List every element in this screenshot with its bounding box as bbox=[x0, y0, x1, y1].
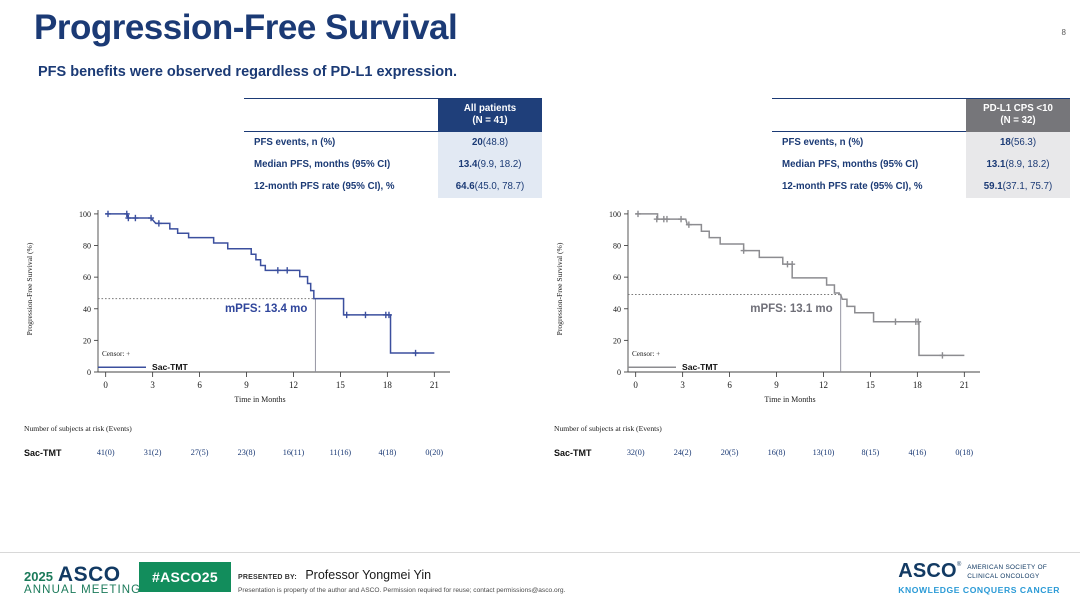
svg-text:9: 9 bbox=[244, 380, 249, 390]
svg-text:18: 18 bbox=[913, 380, 923, 390]
presented-by: PRESENTED BY: Professor Yongmei Yin bbox=[238, 566, 431, 584]
row-value-ci: (45.0, 78.7) bbox=[475, 181, 525, 192]
risk-table-cell: 4(18) bbox=[379, 448, 397, 457]
column-header-n: (N = 32) bbox=[1000, 115, 1035, 127]
risk-table-cell: 4(16) bbox=[909, 448, 927, 457]
risk-table-cell: 0(20) bbox=[425, 448, 443, 457]
svg-text:Progression-Free Survival (%): Progression-Free Survival (%) bbox=[25, 242, 34, 335]
km-plot-svg: Progression-Free Survival (%)02040608010… bbox=[18, 196, 458, 411]
column-header-n: (N = 41) bbox=[472, 115, 507, 127]
svg-text:80: 80 bbox=[613, 242, 621, 251]
svg-text:15: 15 bbox=[866, 380, 876, 390]
disclaimer-text: Presentation is property of the author a… bbox=[238, 587, 565, 594]
svg-text:40: 40 bbox=[613, 305, 621, 314]
svg-text:Time in Months: Time in Months bbox=[764, 395, 815, 404]
risk-table-cell: 13(10) bbox=[813, 448, 835, 457]
table-column-header: All patients (N = 41) bbox=[438, 99, 542, 132]
svg-text:mPFS: 13.4 mo: mPFS: 13.4 mo bbox=[225, 303, 307, 315]
svg-text:18: 18 bbox=[383, 380, 393, 390]
row-value-bold: 18 bbox=[1000, 137, 1011, 148]
row-label: 12-month PFS rate (95% CI), % bbox=[772, 176, 966, 198]
svg-text:0: 0 bbox=[633, 380, 638, 390]
row-value: 59.1 (37.1, 75.7) bbox=[966, 176, 1070, 198]
risk-table-row: 41(0)31(2)27(5)23(8)16(11)11(16)4(18)0(2… bbox=[18, 448, 458, 462]
risk-table-cell: 0(18) bbox=[955, 448, 973, 457]
risk-table-cell: 27(5) bbox=[191, 448, 209, 457]
svg-text:0: 0 bbox=[617, 368, 621, 377]
table-row: PFS events, n (%) 20 (48.8) bbox=[244, 132, 542, 154]
svg-text:mPFS: 13.1 mo: mPFS: 13.1 mo bbox=[750, 303, 832, 315]
risk-table-cell: 32(0) bbox=[627, 448, 645, 457]
svg-text:100: 100 bbox=[609, 210, 621, 219]
risk-table-cell: 16(8) bbox=[768, 448, 786, 457]
svg-text:0: 0 bbox=[87, 368, 91, 377]
row-value-bold: 20 bbox=[472, 137, 483, 148]
footer-divider bbox=[0, 552, 1080, 553]
table-corner-cell bbox=[244, 99, 438, 132]
table-column-header: PD-L1 CPS <10 (N = 32) bbox=[966, 99, 1070, 132]
row-value: 64.6 (45.0, 78.7) bbox=[438, 176, 542, 198]
svg-text:100: 100 bbox=[79, 210, 91, 219]
table-row: Median PFS, months (95% CI) 13.1 (8.9, 1… bbox=[772, 154, 1070, 176]
row-value: 20 (48.8) bbox=[438, 132, 542, 154]
row-label: 12-month PFS rate (95% CI), % bbox=[244, 176, 438, 198]
summary-table-all-patients: All patients (N = 41) PFS events, n (%) … bbox=[244, 98, 542, 198]
svg-text:21: 21 bbox=[960, 380, 969, 390]
row-value: 13.4 (9.9, 18.2) bbox=[438, 154, 542, 176]
table-row: Median PFS, months (95% CI) 13.4 (9.9, 1… bbox=[244, 154, 542, 176]
svg-text:3: 3 bbox=[150, 380, 155, 390]
row-value-ci: (48.8) bbox=[483, 137, 508, 148]
risk-table-cell: 8(15) bbox=[862, 448, 880, 457]
svg-text:12: 12 bbox=[819, 380, 828, 390]
svg-text:9: 9 bbox=[774, 380, 779, 390]
svg-text:80: 80 bbox=[83, 242, 91, 251]
column-header-title: All patients bbox=[464, 103, 516, 115]
asco-corporate-logo: ASCO ® AMERICAN SOCIETY OF CLINICAL ONCO… bbox=[898, 560, 1060, 595]
risk-table-caption: Number of subjects at risk (Events) bbox=[554, 424, 662, 433]
svg-text:21: 21 bbox=[430, 380, 439, 390]
svg-text:Sac-TMT: Sac-TMT bbox=[682, 362, 719, 372]
risk-table-row: 32(0)24(2)20(5)16(8)13(10)8(15)4(16)0(18… bbox=[548, 448, 988, 462]
slide-subtitle: PFS benefits were observed regardless of… bbox=[38, 64, 457, 80]
svg-text:60: 60 bbox=[83, 273, 91, 282]
row-value-bold: 13.4 bbox=[458, 159, 477, 170]
row-label: PFS events, n (%) bbox=[772, 132, 966, 154]
risk-table-cell: 24(2) bbox=[674, 448, 692, 457]
summary-table-pdl1-cps-lt10: PD-L1 CPS <10 (N = 32) PFS events, n (%)… bbox=[772, 98, 1070, 198]
row-value-ci: (56.3) bbox=[1011, 137, 1036, 148]
corp-society-line-1: AMERICAN SOCIETY OF bbox=[967, 564, 1047, 573]
row-label: Median PFS, months (95% CI) bbox=[772, 154, 966, 176]
row-value-ci: (9.9, 18.2) bbox=[477, 159, 521, 170]
svg-text:Progression-Free Survival (%): Progression-Free Survival (%) bbox=[555, 242, 564, 335]
svg-text:Censor: +: Censor: + bbox=[632, 350, 660, 358]
row-label: Median PFS, months (95% CI) bbox=[244, 154, 438, 176]
table-row: 12-month PFS rate (95% CI), % 59.1 (37.1… bbox=[772, 176, 1070, 198]
svg-text:60: 60 bbox=[613, 273, 621, 282]
svg-text:6: 6 bbox=[197, 380, 202, 390]
svg-text:15: 15 bbox=[336, 380, 346, 390]
hashtag-badge: #ASCO25 bbox=[139, 562, 231, 592]
table-row: PFS events, n (%) 18 (56.3) bbox=[772, 132, 1070, 154]
meeting-subtitle: ANNUAL MEETING bbox=[24, 584, 141, 596]
risk-table-cell: 20(5) bbox=[721, 448, 739, 457]
row-value-bold: 13.1 bbox=[986, 159, 1005, 170]
svg-text:40: 40 bbox=[83, 305, 91, 314]
row-value-ci: (37.1, 75.7) bbox=[1003, 181, 1053, 192]
table-row: 12-month PFS rate (95% CI), % 64.6 (45.0… bbox=[244, 176, 542, 198]
row-label: PFS events, n (%) bbox=[244, 132, 438, 154]
presented-by-label: PRESENTED BY: bbox=[238, 574, 297, 581]
km-plot-all-patients: Progression-Free Survival (%)02040608010… bbox=[18, 196, 518, 486]
row-value: 18 (56.3) bbox=[966, 132, 1070, 154]
km-plot-pdl1-cps-lt10: Progression-Free Survival (%)02040608010… bbox=[548, 196, 1048, 486]
risk-table-cell: 31(2) bbox=[144, 448, 162, 457]
svg-text:Time in Months: Time in Months bbox=[234, 395, 285, 404]
svg-text:12: 12 bbox=[289, 380, 298, 390]
risk-table-cell: 23(8) bbox=[238, 448, 256, 457]
column-header-title: PD-L1 CPS <10 bbox=[983, 103, 1053, 115]
asco-annual-meeting-logo: 2025 ASCO ANNUAL MEETING bbox=[24, 563, 141, 596]
corp-society-line-2: CLINICAL ONCOLOGY bbox=[967, 573, 1047, 582]
row-value-bold: 64.6 bbox=[456, 181, 475, 192]
risk-table-cell: 11(16) bbox=[330, 448, 352, 457]
meeting-year: 2025 bbox=[24, 569, 53, 584]
page-number: 8 bbox=[1062, 28, 1066, 37]
row-value-ci: (8.9, 18.2) bbox=[1005, 159, 1049, 170]
risk-table-cell: 41(0) bbox=[97, 448, 115, 457]
table-corner-cell bbox=[772, 99, 966, 132]
svg-text:Sac-TMT: Sac-TMT bbox=[152, 362, 189, 372]
corp-brand: ASCO bbox=[898, 560, 957, 583]
risk-table-cell: 16(11) bbox=[283, 448, 305, 457]
page-title: Progression-Free Survival bbox=[34, 8, 457, 48]
row-value: 13.1 (8.9, 18.2) bbox=[966, 154, 1070, 176]
svg-text:6: 6 bbox=[727, 380, 732, 390]
svg-text:20: 20 bbox=[83, 336, 91, 345]
svg-text:Censor: +: Censor: + bbox=[102, 350, 130, 358]
svg-text:3: 3 bbox=[680, 380, 685, 390]
svg-text:0: 0 bbox=[103, 380, 108, 390]
svg-text:20: 20 bbox=[613, 336, 621, 345]
corp-tagline: KNOWLEDGE CONQUERS CANCER bbox=[898, 585, 1060, 595]
km-plot-svg: Progression-Free Survival (%)02040608010… bbox=[548, 196, 988, 411]
presenter-name: Professor Yongmei Yin bbox=[305, 568, 431, 582]
row-value-bold: 59.1 bbox=[984, 181, 1003, 192]
risk-table-caption: Number of subjects at risk (Events) bbox=[24, 424, 132, 433]
